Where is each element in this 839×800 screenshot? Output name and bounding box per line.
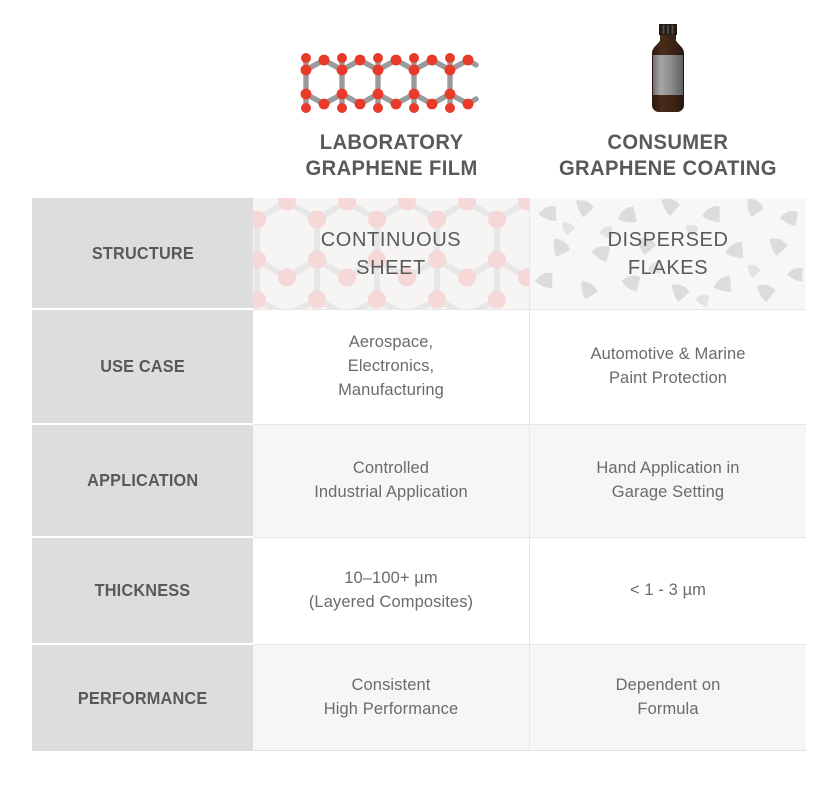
cell-line-2: Formula	[616, 698, 721, 722]
row-label-use-case: USE CASE	[32, 310, 253, 425]
cell-thickness-laboratory: 10–100+ µm (Layered Composites)	[253, 538, 530, 645]
cell-line-2: Garage Setting	[596, 481, 739, 505]
row-label-application: APPLICATION	[32, 425, 253, 538]
cell-line-1: DISPERSED	[608, 226, 729, 254]
cell-text-thickness-consumer: < 1 - 3 µm	[630, 579, 706, 603]
cell-text-application-consumer: Hand Application in Garage Setting	[596, 457, 739, 505]
cell-line-2: Industrial Application	[314, 481, 468, 505]
cell-use-case-laboratory: Aerospace, Electronics, Manufacturing	[253, 310, 530, 425]
cell-line-1: Hand Application in	[596, 457, 739, 481]
cell-text-use-case-consumer: Automotive & Marine Paint Protection	[590, 343, 745, 391]
cell-line-2: Paint Protection	[590, 367, 745, 391]
graphene-lattice-icon	[296, 33, 486, 115]
table-row: PERFORMANCE Consistent High Performance …	[32, 645, 806, 751]
row-label-performance: PERFORMANCE	[32, 645, 253, 751]
cell-structure-laboratory: CONTINUOUS SHEET	[253, 198, 530, 310]
header-title-line-1: LABORATORY	[305, 129, 477, 156]
cell-text-structure-consumer: DISPERSED FLAKES	[608, 226, 729, 282]
comparison-header: LABORATORY GRAPHENE FILM	[32, 0, 806, 198]
cell-line-1: Consistent	[324, 674, 459, 698]
cell-text-performance-consumer: Dependent on Formula	[616, 674, 721, 722]
cell-performance-laboratory: Consistent High Performance	[253, 645, 530, 751]
row-label-thickness: THICKNESS	[32, 538, 253, 645]
cell-line-2: FLAKES	[608, 254, 729, 282]
header-column-laboratory: LABORATORY GRAPHENE FILM	[253, 0, 530, 198]
cell-application-consumer: Hand Application in Garage Setting	[530, 425, 806, 538]
cell-line-1: CONTINUOUS	[321, 226, 461, 254]
row-label-structure: STRUCTURE	[32, 198, 253, 310]
cell-text-use-case-laboratory: Aerospace, Electronics, Manufacturing	[338, 331, 444, 403]
row-label-text: APPLICATION	[87, 470, 198, 491]
table-row: STRUCTURE	[32, 198, 806, 310]
table-row: APPLICATION Controlled Industrial Applic…	[32, 425, 806, 538]
table-row: THICKNESS 10–100+ µm (Layered Composites…	[32, 538, 806, 645]
cell-line-1: Automotive & Marine	[590, 343, 745, 367]
cell-line-2: Electronics,	[338, 355, 444, 379]
cell-structure-consumer: DISPERSED FLAKES	[530, 198, 806, 310]
table-row: USE CASE Aerospace, Electronics, Manufac…	[32, 310, 806, 425]
header-corner-spacer	[32, 0, 253, 198]
cell-performance-consumer: Dependent on Formula	[530, 645, 806, 751]
cell-line-2: High Performance	[324, 698, 459, 722]
row-label-text: USE CASE	[100, 356, 185, 377]
cell-thickness-consumer: < 1 - 3 µm	[530, 538, 806, 645]
cell-text-performance-laboratory: Consistent High Performance	[324, 674, 459, 722]
cell-application-laboratory: Controlled Industrial Application	[253, 425, 530, 538]
cell-line-1: 10–100+ µm	[309, 567, 473, 591]
cell-text-thickness-laboratory: 10–100+ µm (Layered Composites)	[309, 567, 473, 615]
coating-bottle-icon	[636, 33, 700, 115]
header-title-line-2: GRAPHENE FILM	[305, 155, 477, 182]
row-label-text: THICKNESS	[95, 580, 191, 601]
header-title-line-2: GRAPHENE COATING	[559, 155, 777, 182]
cell-text-application-laboratory: Controlled Industrial Application	[314, 457, 468, 505]
row-label-text: PERFORMANCE	[78, 688, 208, 709]
header-column-consumer: CONSUMER GRAPHENE COATING	[530, 0, 807, 198]
header-title-laboratory: LABORATORY GRAPHENE FILM	[305, 129, 477, 182]
cell-line-1: Dependent on	[616, 674, 721, 698]
cell-text-structure-laboratory: CONTINUOUS SHEET	[321, 226, 461, 282]
row-label-text: STRUCTURE	[91, 243, 193, 264]
cell-line-2: SHEET	[321, 254, 461, 282]
header-title-line-1: CONSUMER	[559, 129, 777, 156]
cell-use-case-consumer: Automotive & Marine Paint Protection	[530, 310, 806, 425]
cell-line-1: Aerospace,	[338, 331, 444, 355]
cell-line-1: Controlled	[314, 457, 468, 481]
cell-line-1: < 1 - 3 µm	[630, 579, 706, 603]
cell-line-2: (Layered Composites)	[309, 591, 473, 615]
cell-line-3: Manufacturing	[338, 379, 444, 403]
comparison-table: STRUCTURE	[32, 198, 806, 751]
header-title-consumer: CONSUMER GRAPHENE COATING	[559, 129, 777, 182]
